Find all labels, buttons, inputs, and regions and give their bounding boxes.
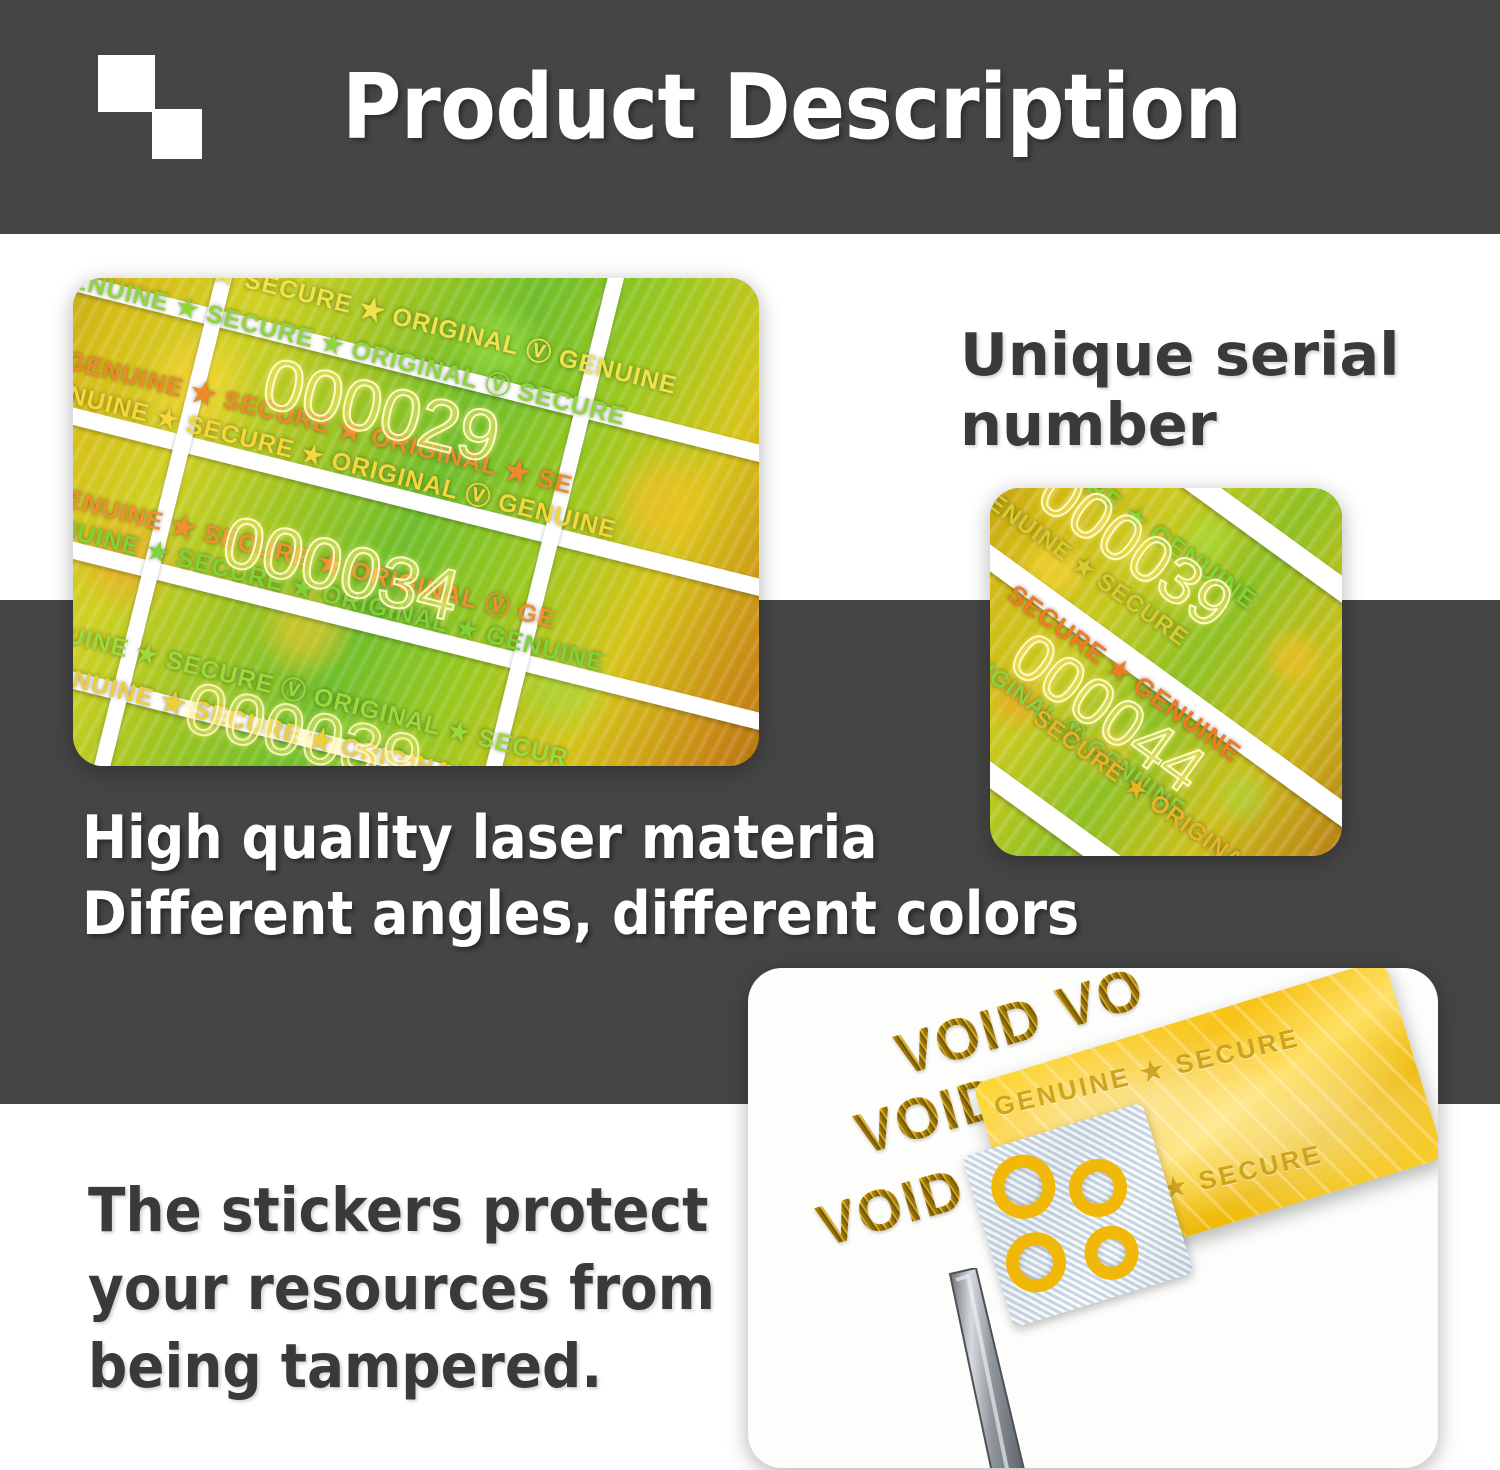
callout-stickers-protect: The stickers protect your resources from… xyxy=(88,1172,715,1406)
logo-square-top-left xyxy=(98,55,155,112)
logo-square-bottom-right xyxy=(152,109,202,159)
void-ring-glyph xyxy=(1078,1219,1145,1286)
callout-unique-serial-number: Unique serial number xyxy=(960,320,1399,460)
page-title: Product Description xyxy=(342,56,1242,160)
callout-line: being tampered. xyxy=(88,1328,715,1406)
callout-line: your resources from xyxy=(88,1250,715,1328)
void-ring-glyph xyxy=(1062,1152,1134,1224)
callout-high-quality-laser: High quality laser materia Different ang… xyxy=(82,800,1079,952)
tweezer-icon xyxy=(898,1268,1048,1468)
callout-line: number xyxy=(960,390,1399,460)
callout-line: The stickers protect xyxy=(88,1172,715,1250)
callout-line: High quality laser materia xyxy=(82,800,1079,876)
two-squares-logo-icon xyxy=(98,55,202,159)
header: Product Description xyxy=(0,0,1500,234)
callout-line: Different angles, different colors xyxy=(82,876,1079,952)
hologram-sticker-sheet-photo: ⓋGENUINE ★ SECURE ★ ORIGINAL Ⓥ GENUINE G… xyxy=(73,278,759,766)
void-tamper-evidence-photo: VOID VO VOID VOID GENUINE ★ SECURE GENUI… xyxy=(748,968,1438,1468)
void-ring-glyph xyxy=(983,1147,1063,1227)
callout-line: Unique serial xyxy=(960,320,1399,390)
void-word: VOID xyxy=(810,1155,972,1261)
